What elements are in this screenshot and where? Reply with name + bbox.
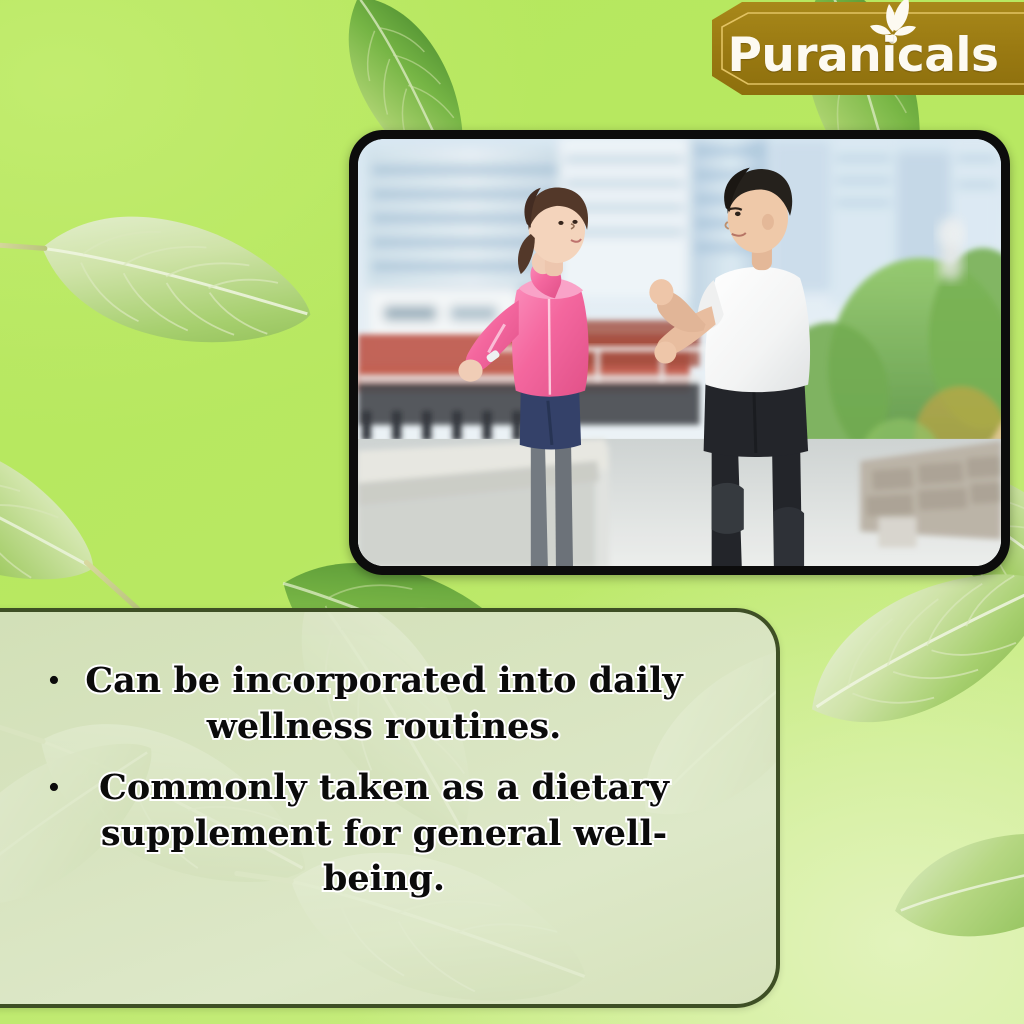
logo-badge-shape <box>698 0 1024 101</box>
bullet-text: Commonly taken as a dietary supplement f… <box>76 765 722 902</box>
hero-photo <box>358 139 1001 566</box>
list-item: • Commonly taken as a dietary supplement… <box>42 765 722 902</box>
bullet-marker-icon: • <box>42 658 76 704</box>
bullet-text-panel: • Can be incorporated into daily wellnes… <box>0 608 780 1008</box>
hero-photo-frame <box>349 130 1010 575</box>
leaf-right-bottom-corner <box>884 811 1024 957</box>
bullet-marker-icon: • <box>42 765 76 811</box>
list-item: • Can be incorporated into daily wellnes… <box>42 658 722 749</box>
sprout-leaf-icon <box>864 0 920 42</box>
bullet-text: Can be incorporated into daily wellness … <box>76 658 722 749</box>
hero-photo-illustration <box>358 139 1001 566</box>
leaf-left-upper <box>0 179 324 370</box>
bullet-list: • Can be incorporated into daily wellnes… <box>0 612 776 928</box>
brand-logo[interactable]: Puranicals <box>698 0 1024 101</box>
